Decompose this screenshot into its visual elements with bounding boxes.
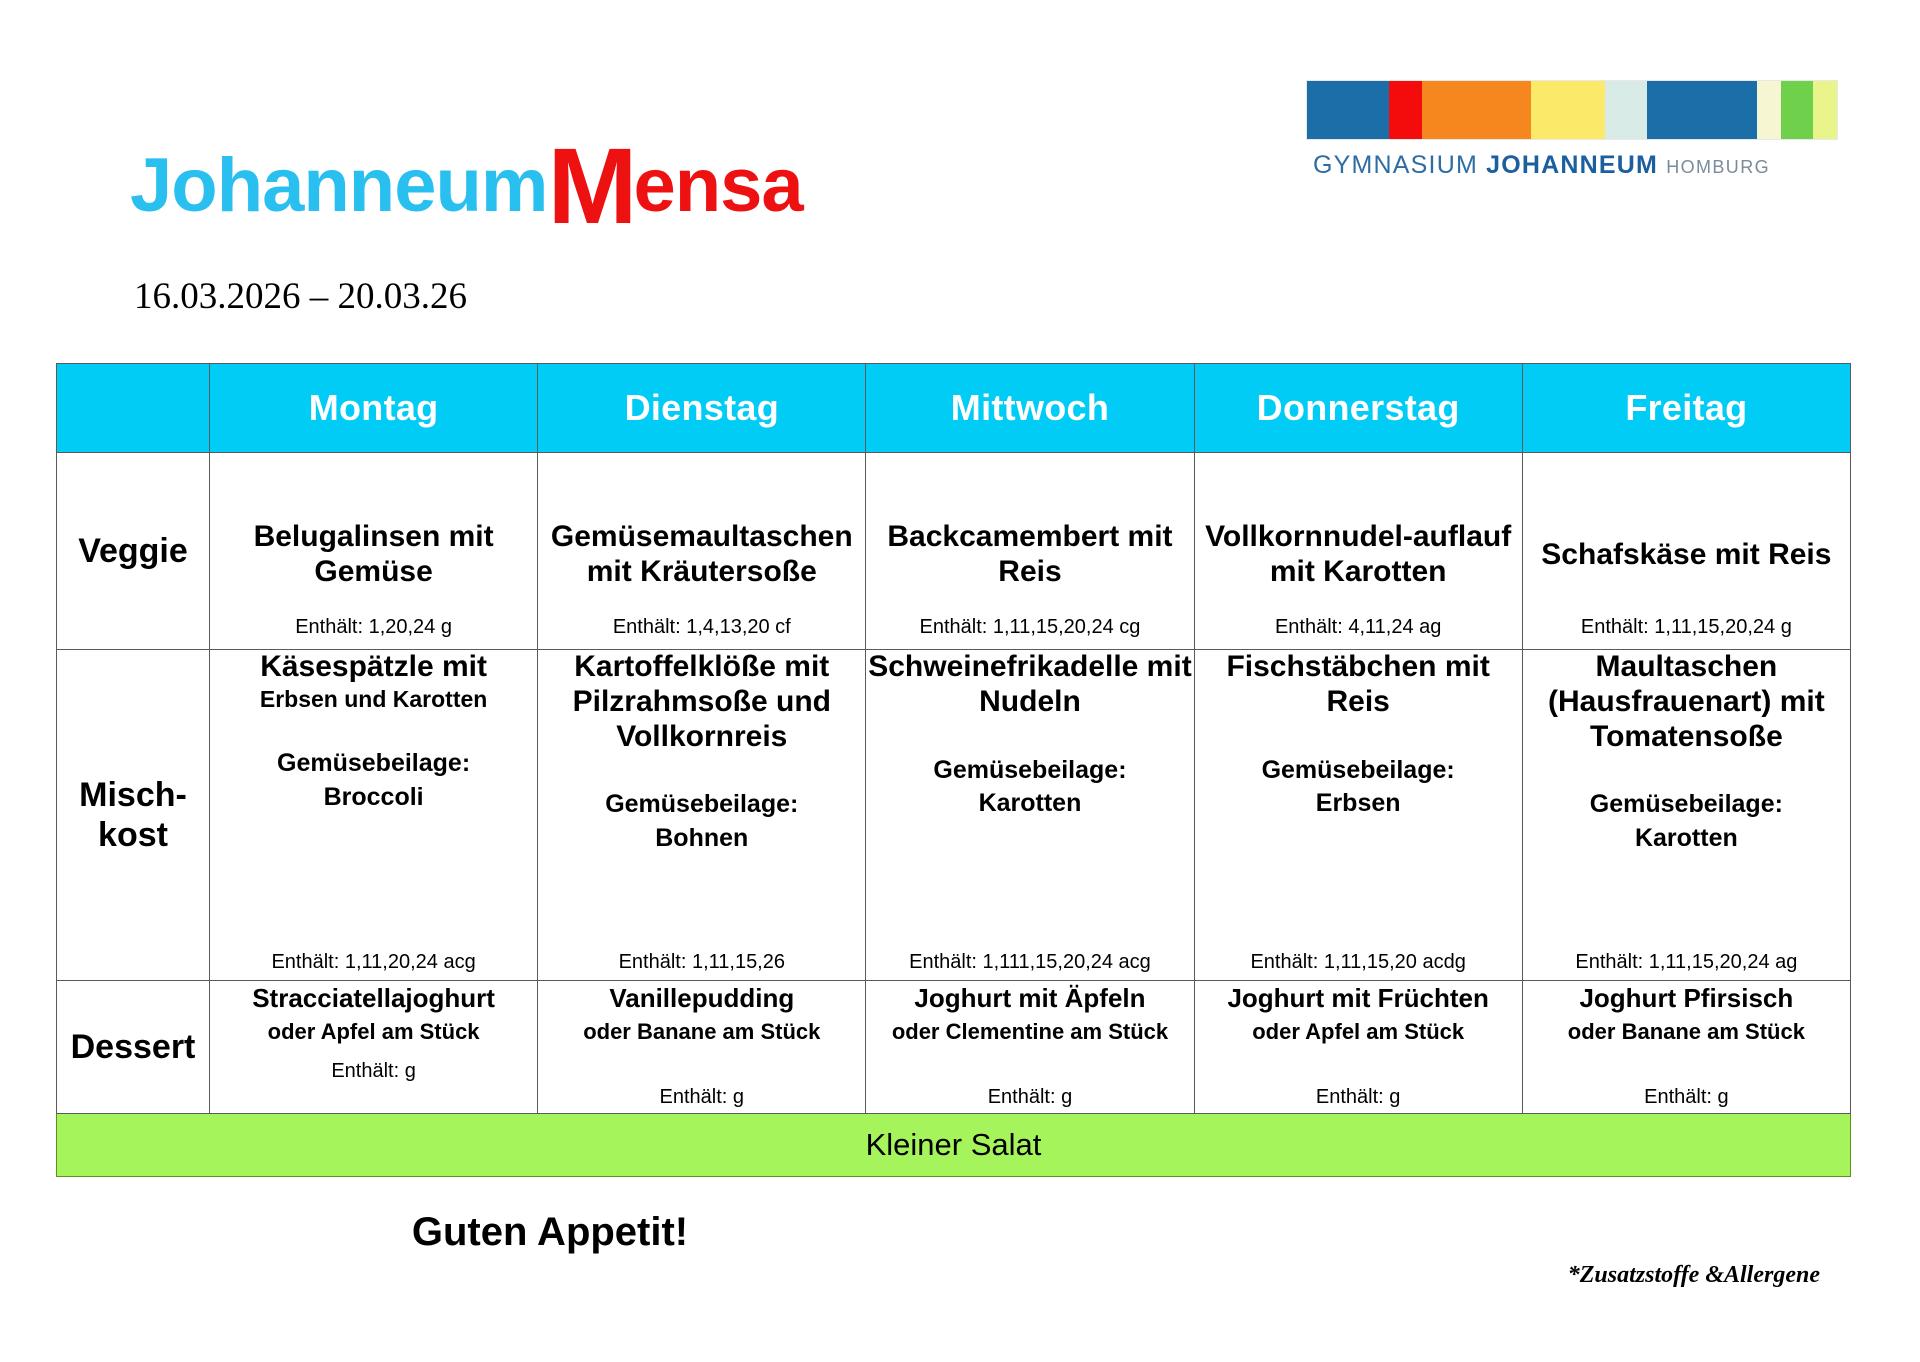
bon-appetit-text: Guten Appetit! [0, 1210, 1100, 1255]
cell-veggie-freitag: Schafskäse mit Reis Enthält: 1,11,15,20,… [1522, 453, 1850, 650]
allergen-info: Enthält: 1,11,15,20,24 ag [1523, 950, 1850, 974]
weekly-menu-table: Montag Dienstag Mittwoch Donnerstag Frei… [56, 363, 1851, 1177]
side-dish-block: Gemüsebeilage: Karotten [1523, 788, 1850, 856]
dish-name: Schafskäse mit Reis [1523, 538, 1850, 573]
logo-stripe-8 [1781, 81, 1813, 139]
logo-caption: GYMNASIUM JOHANNEUM HOMBURG [1306, 151, 1838, 180]
row-label-mischkost-line2: kost [98, 816, 168, 854]
cell-veggie-donnerstag: Vollkornnudel-auflauf mit Karotten Enthä… [1194, 453, 1522, 650]
logo-stripe-6 [1647, 81, 1757, 139]
allergen-info: Enthält: g [1523, 1085, 1850, 1109]
side-dish-block: Gemüsebeilage: Erbsen [1195, 754, 1522, 822]
dessert-name: Vanillepudding [538, 983, 865, 1014]
salad-banner-row: Kleiner Salat [57, 1114, 1851, 1177]
brand-part-johanneum: Johanneum [130, 143, 548, 228]
side-dish-block: Gemüsebeilage: Karotten [866, 754, 1193, 822]
row-label-mischkost-line1: Misch- [79, 776, 187, 814]
menu-row-dessert: Dessert Stracciatellajoghurt oder Apfel … [57, 981, 1851, 1114]
logo-stripe-9 [1813, 81, 1837, 139]
row-label-dessert: Dessert [57, 981, 210, 1114]
table-corner-cell [57, 364, 210, 453]
allergen-info: Enthält: 4,11,24 ag [1195, 615, 1522, 639]
cell-dessert-montag: Stracciatellajoghurt oder Apfel am Stück… [210, 981, 538, 1114]
allergen-info: Enthält: 1,4,13,20 cf [538, 615, 865, 639]
row-label-mischkost: Misch- kost [57, 650, 210, 981]
cell-veggie-montag: Belugalinsen mit Gemüse Enthält: 1,20,24… [210, 453, 538, 650]
dessert-name: Joghurt Pfirsisch [1523, 983, 1850, 1014]
table-header-row: Montag Dienstag Mittwoch Donnerstag Frei… [57, 364, 1851, 453]
logo-stripe-bar [1306, 80, 1838, 140]
side-dish-value: Bohnen [538, 822, 865, 856]
logo-caption-johanneum: JOHANNEUM [1486, 151, 1658, 179]
cell-dessert-dienstag: Vanillepudding oder Banane am Stück Enth… [538, 981, 866, 1114]
side-dish-value: Karotten [866, 787, 1193, 821]
allergen-footnote: *Zusatzstoffe &Allergene [1568, 1262, 1820, 1289]
allergen-info: Enthält: 1,111,15,20,24 acg [866, 950, 1193, 974]
dish-name: Fischstäbchen mit Reis [1195, 650, 1522, 720]
side-dish-label: Gemüsebeilage: [538, 788, 865, 822]
dish-name: Kartoffelklöße mit Pilzrahmsoße und Voll… [538, 650, 865, 754]
side-dish-label: Gemüsebeilage: [1523, 788, 1850, 822]
day-header-dienstag: Dienstag [538, 364, 866, 453]
dessert-name: Joghurt mit Früchten [1195, 983, 1522, 1014]
logo-stripe-1 [1307, 81, 1389, 139]
allergen-info: Enthält: g [210, 1059, 537, 1083]
cell-dessert-donnerstag: Joghurt mit Früchten oder Apfel am Stück… [1194, 981, 1522, 1114]
row-label-veggie: Veggie [57, 453, 210, 650]
page-title: JohanneumMensa [130, 120, 803, 228]
allergen-info: Enthält: 1,11,15,20,24 g [1523, 615, 1850, 639]
dessert-name: Stracciatellajoghurt [210, 983, 537, 1014]
side-dish-value: Karotten [1523, 822, 1850, 856]
dessert-alternative: oder Clementine am Stück [866, 1018, 1193, 1046]
dessert-alternative: oder Banane am Stück [1523, 1018, 1850, 1046]
dish-name: Käsespätzle mit [210, 650, 537, 685]
day-header-montag: Montag [210, 364, 538, 453]
cell-mischkost-montag: Käsespätzle mit Erbsen und Karotten Gemü… [210, 650, 538, 981]
logo-stripe-5 [1605, 81, 1647, 139]
dish-name: Vollkornnudel-auflauf mit Karotten [1195, 520, 1522, 590]
side-dish-label: Gemüsebeilage: [866, 754, 1193, 788]
cell-mischkost-dienstag: Kartoffelklöße mit Pilzrahmsoße und Voll… [538, 650, 866, 981]
side-dish-block: Gemüsebeilage: Broccoli [210, 747, 537, 815]
logo-stripe-4 [1531, 81, 1605, 139]
menu-row-mischkost: Misch- kost Käsespätzle mit Erbsen und K… [57, 650, 1851, 981]
menu-row-veggie: Veggie Belugalinsen mit Gemüse Enthält: … [57, 453, 1851, 650]
salad-banner: Kleiner Salat [57, 1114, 1851, 1177]
allergen-info: Enthält: 1,11,15,26 [538, 950, 865, 974]
day-header-mittwoch: Mittwoch [866, 364, 1194, 453]
side-dish-block: Gemüsebeilage: Bohnen [538, 788, 865, 856]
logo-stripe-3 [1422, 81, 1531, 139]
logo-caption-gymnasium: GYMNASIUM [1313, 151, 1486, 179]
dessert-alternative: oder Apfel am Stück [210, 1018, 537, 1046]
dish-name: Belugalinsen mit Gemüse [210, 520, 537, 590]
allergen-info: Enthält: 1,20,24 g [210, 615, 537, 639]
dish-name: Maultaschen (Hausfrauenart) mit Tomatens… [1523, 650, 1850, 754]
cell-mischkost-freitag: Maultaschen (Hausfrauenart) mit Tomatens… [1522, 650, 1850, 981]
day-header-donnerstag: Donnerstag [1194, 364, 1522, 453]
date-range: 16.03.2026 – 20.03.26 [134, 275, 467, 318]
brand-initial-m: M [548, 125, 634, 246]
dish-name: Gemüsemaultaschen mit Kräutersoße [538, 520, 865, 590]
day-header-freitag: Freitag [1522, 364, 1850, 453]
side-dish-label: Gemüsebeilage: [210, 747, 537, 781]
allergen-info: Enthält: 1,11,20,24 acg [210, 950, 537, 974]
allergen-info: Enthält: 1,11,15,20 acdg [1195, 950, 1522, 974]
page-header: JohanneumMensa 16.03.2026 – 20.03.26 GYM… [0, 0, 1920, 280]
dessert-name: Joghurt mit Äpfeln [866, 983, 1193, 1014]
dish-name: Schweinefrikadelle mit Nudeln [866, 650, 1193, 720]
allergen-info: Enthält: g [538, 1085, 865, 1109]
cell-dessert-freitag: Joghurt Pfirsisch oder Banane am Stück E… [1522, 981, 1850, 1114]
dish-name: Backcamembert mit Reis [866, 520, 1193, 590]
logo-stripe-7 [1757, 81, 1781, 139]
school-logo: GYMNASIUM JOHANNEUM HOMBURG [1306, 80, 1838, 180]
allergen-info: Enthält: g [866, 1085, 1193, 1109]
brand-part-ensa: ensa [633, 143, 802, 228]
logo-stripe-2 [1389, 81, 1422, 139]
cell-mischkost-donnerstag: Fischstäbchen mit Reis Gemüsebeilage: Er… [1194, 650, 1522, 981]
allergen-info: Enthält: g [1195, 1085, 1522, 1109]
side-dish-value: Broccoli [210, 781, 537, 815]
cell-veggie-dienstag: Gemüsemaultaschen mit Kräutersoße Enthäl… [538, 453, 866, 650]
allergen-info: Enthält: 1,11,15,20,24 cg [866, 615, 1193, 639]
logo-caption-homburg: HOMBURG [1666, 157, 1770, 177]
side-dish-label: Gemüsebeilage: [1195, 754, 1522, 788]
cell-mischkost-mittwoch: Schweinefrikadelle mit Nudeln Gemüsebeil… [866, 650, 1194, 981]
cell-dessert-mittwoch: Joghurt mit Äpfeln oder Clementine am St… [866, 981, 1194, 1114]
dessert-alternative: oder Apfel am Stück [1195, 1018, 1522, 1046]
side-dish-value: Erbsen [1195, 787, 1522, 821]
dish-subtitle: Erbsen und Karotten [210, 686, 537, 714]
cell-veggie-mittwoch: Backcamembert mit Reis Enthält: 1,11,15,… [866, 453, 1194, 650]
dessert-alternative: oder Banane am Stück [538, 1018, 865, 1046]
